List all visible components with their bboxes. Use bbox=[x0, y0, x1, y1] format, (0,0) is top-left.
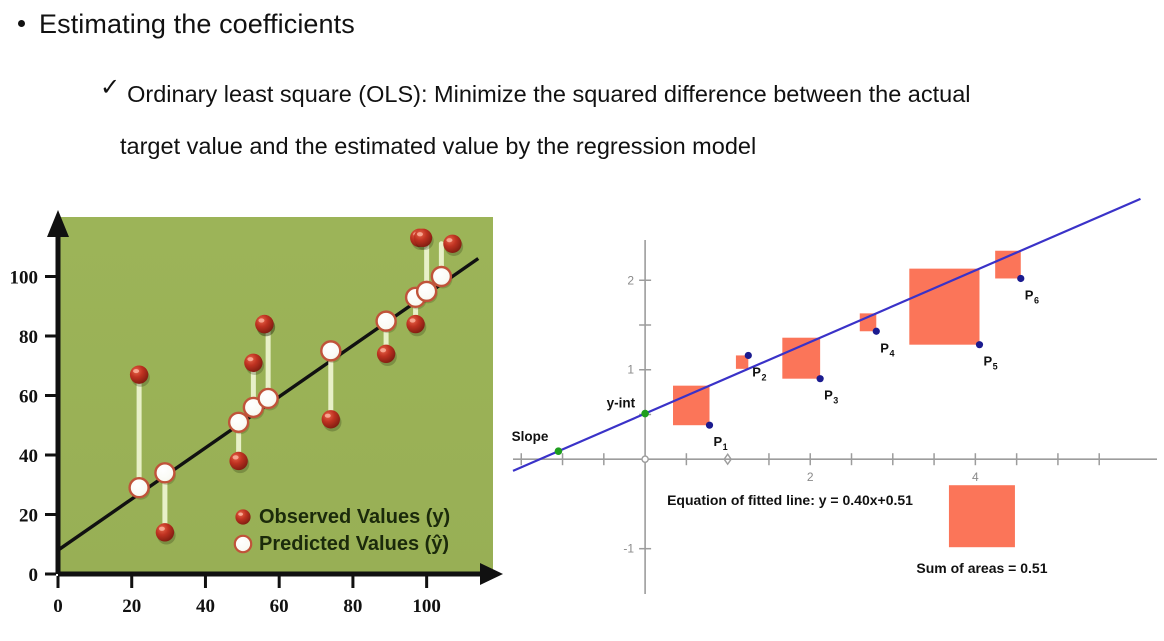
data-point-label: P6 bbox=[1025, 287, 1039, 305]
right-x-tick-label: 2 bbox=[807, 470, 814, 484]
data-point-label: P4 bbox=[880, 340, 894, 358]
data-point-dot bbox=[1017, 275, 1024, 282]
right-axes: 24-112 bbox=[513, 240, 1157, 594]
right-y-tick-label: -1 bbox=[623, 542, 634, 556]
right-x-tick-label: 4 bbox=[972, 470, 979, 484]
residual-area-square bbox=[782, 338, 820, 379]
bullet-level1: Estimating the coefficients bbox=[18, 4, 355, 44]
y-axis-tick-label: 20 bbox=[19, 506, 38, 527]
right-footer-texts: Equation of fitted line: y = 0.40x+0.51S… bbox=[667, 485, 1048, 576]
annotation-point-icon bbox=[555, 447, 563, 455]
data-point-label: P2 bbox=[752, 364, 766, 382]
bullet-level2-line1: ✓ Ordinary least square (OLS): Minimize … bbox=[100, 68, 1140, 120]
y-axis-tick-label: 60 bbox=[19, 387, 38, 408]
x-axis-tick-label: 0 bbox=[53, 596, 63, 617]
chart-observed-vs-predicted: 020406080100020406080100 Observed Values… bbox=[0, 205, 500, 641]
origin-marker-icon bbox=[642, 456, 648, 462]
residual-area-square bbox=[909, 269, 979, 345]
right-residual-squares bbox=[673, 251, 1021, 425]
legend-item-label: Predicted Values (ŷ) bbox=[259, 533, 449, 555]
y-axis-tick-label: 100 bbox=[10, 268, 39, 289]
residual-area-square bbox=[673, 386, 709, 426]
fitted-line-equation: Equation of fitted line: y = 0.40x+0.51 bbox=[667, 492, 913, 508]
sub-bullet-line1: Ordinary least square (OLS): Minimize th… bbox=[127, 68, 970, 120]
data-point-P5: P5 bbox=[976, 341, 998, 372]
legend-predicted-marker-icon bbox=[235, 536, 251, 552]
annotation-y-int: y-int bbox=[607, 396, 649, 418]
data-point-label: P3 bbox=[824, 388, 838, 406]
right-y-tick-label: 2 bbox=[627, 273, 634, 287]
bullet-level2-line2: target value and the estimated value by … bbox=[100, 120, 1140, 172]
data-point-P3: P3 bbox=[817, 375, 839, 406]
annotation-label: y-int bbox=[607, 396, 636, 411]
data-point-P1: P1 bbox=[706, 422, 728, 453]
residual-area-square bbox=[995, 251, 1021, 279]
x-axis-tick-label: 40 bbox=[196, 596, 215, 617]
sum-of-areas-label: Sum of areas = 0.51 bbox=[916, 560, 1047, 576]
sub-bullet-line2: target value and the estimated value by … bbox=[120, 120, 756, 172]
bullet-dot-icon bbox=[18, 20, 25, 27]
chart-least-squares-areas: 24-112 P1P2P3P4P5P6 y-intSlope Equation … bbox=[505, 230, 1164, 600]
data-point-dot bbox=[976, 341, 983, 348]
annotation-slope: Slope bbox=[512, 429, 563, 455]
right-regression-line bbox=[513, 199, 1140, 471]
x-axis-tick-label: 60 bbox=[270, 596, 289, 617]
right-y-tick-label: 1 bbox=[627, 363, 634, 377]
y-axis-tick-label: 80 bbox=[19, 327, 38, 348]
annotation-label: Slope bbox=[512, 429, 549, 444]
data-point-dot bbox=[706, 422, 713, 429]
x-axis-tick-label: 80 bbox=[343, 596, 362, 617]
data-point-label: P5 bbox=[983, 354, 997, 372]
data-point-P6: P6 bbox=[1017, 275, 1039, 306]
x-axis-tick-label: 100 bbox=[412, 596, 441, 617]
y-axis-tick-label: 0 bbox=[29, 565, 39, 586]
data-point-dot bbox=[745, 352, 752, 359]
data-point-label: P1 bbox=[714, 434, 728, 452]
bullet-level2: ✓ Ordinary least square (OLS): Minimize … bbox=[100, 68, 1140, 172]
right-fitted-line bbox=[513, 199, 1140, 471]
left-chart-svg: 020406080100020406080100 Observed Values… bbox=[0, 205, 500, 641]
right-chart-svg: 24-112 P1P2P3P4P5P6 y-intSlope Equation … bbox=[505, 230, 1164, 600]
x-axis-tick-label: 20 bbox=[122, 596, 141, 617]
check-mark-icon: ✓ bbox=[100, 68, 120, 108]
right-annotations: y-intSlope bbox=[512, 396, 649, 455]
sum-of-areas-swatch bbox=[949, 485, 1015, 547]
data-point-P4: P4 bbox=[873, 328, 895, 359]
right-data-points: P1P2P3P4P5P6 bbox=[706, 275, 1039, 452]
data-point-dot bbox=[817, 375, 824, 382]
y-axis-tick-label: 40 bbox=[19, 446, 38, 467]
data-point-dot bbox=[873, 328, 880, 335]
legend-item: Observed Values (y) bbox=[235, 506, 450, 528]
annotation-point-icon bbox=[641, 410, 649, 418]
page-title: Estimating the coefficients bbox=[39, 4, 355, 44]
legend-item-label: Observed Values (y) bbox=[259, 506, 450, 528]
legend-item: Predicted Values (ŷ) bbox=[235, 533, 449, 555]
legend-observed-marker-icon bbox=[235, 509, 250, 524]
